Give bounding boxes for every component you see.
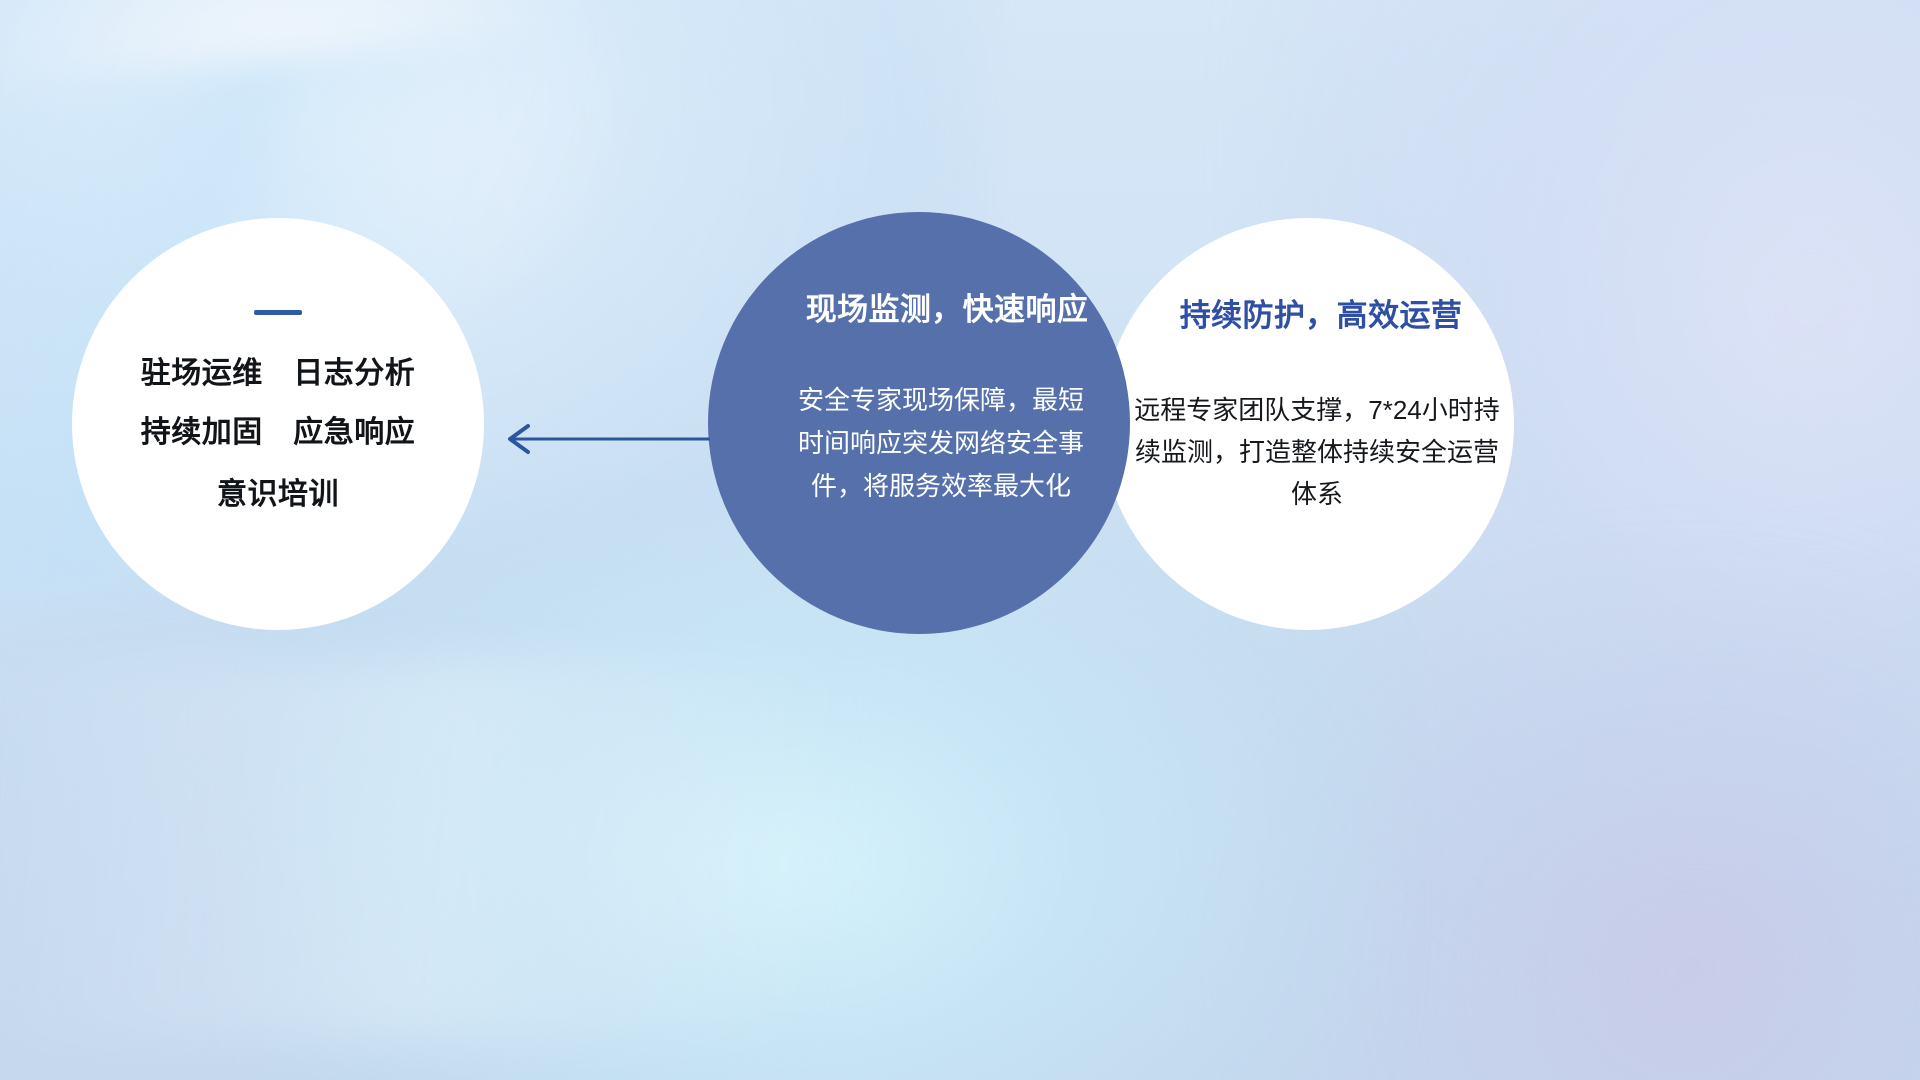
left-keyword-line-2: 持续加固 应急响应 (141, 418, 416, 449)
center-card-title: 现场监测，快速响应 (806, 284, 1089, 329)
arrow-left-icon (492, 418, 712, 460)
right-card-title: 持续防护，高效运营 (1180, 290, 1463, 335)
right-card-body: 远程专家团队支撑，7*24小时持续监测，打造整体持续安全运营体系 (1131, 389, 1503, 515)
center-service-card: 现场监测，快速响应 安全专家现场保障，最短时间响应突发网络安全事件，将服务效率最… (708, 212, 1130, 634)
left-keyword-line-3: 意识培训 (217, 480, 339, 511)
background-streak-lower (0, 660, 980, 1040)
center-card-body: 安全专家现场保障，最短时间响应突发网络安全事件，将服务效率最大化 (791, 379, 1091, 508)
right-service-card: 持续防护，高效运营 远程专家团队支撑，7*24小时持续监测，打造整体持续安全运营… (1102, 218, 1514, 630)
left-keyword-line-1: 驻场运维 日志分析 (141, 359, 416, 390)
slide-canvas: 驻场运维 日志分析 持续加固 应急响应 意识培训 现场监测，快速响应 安全专家现… (0, 0, 1920, 1080)
left-service-card: 驻场运维 日志分析 持续加固 应急响应 意识培训 (72, 218, 484, 630)
divider-dash (254, 310, 302, 315)
